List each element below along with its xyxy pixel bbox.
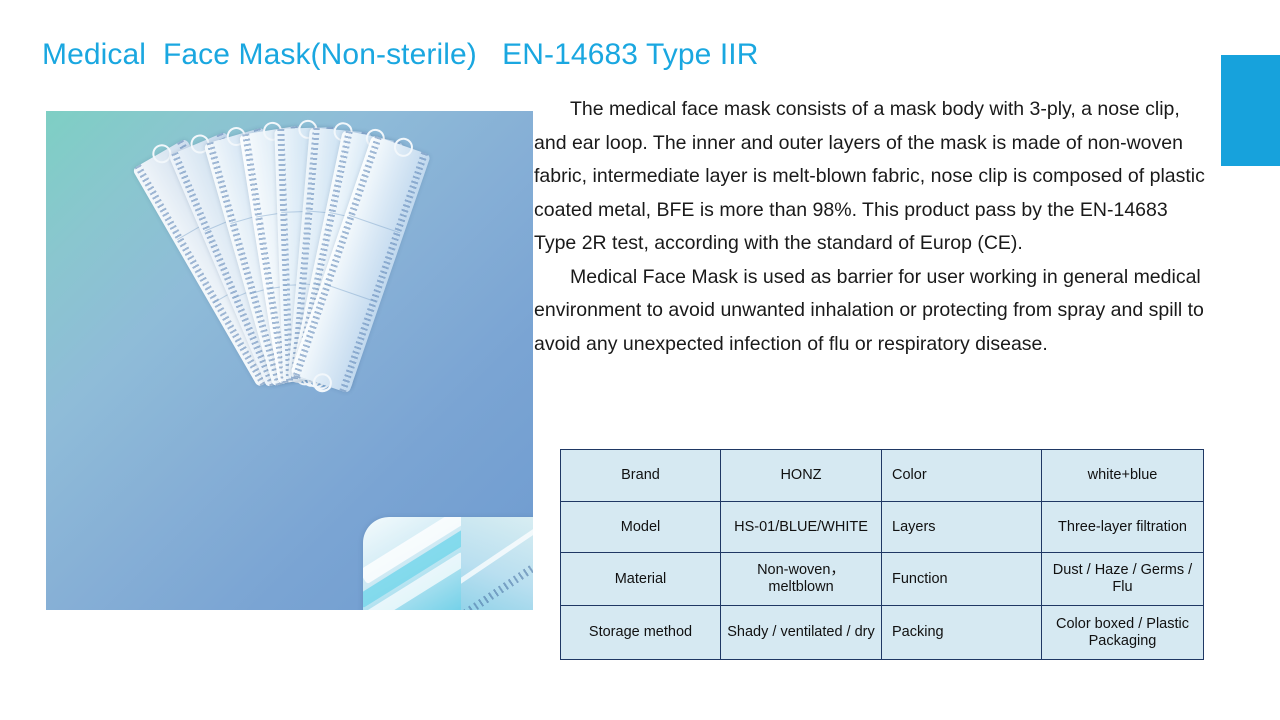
spec-label-storage-method: Storage method — [561, 606, 721, 660]
spec-value-brand: HONZ — [721, 450, 882, 502]
spec-label-layers: Layers — [882, 502, 1042, 553]
spec-value-storage-method: Shady / ventilated / dry — [721, 606, 882, 660]
table-row: Storage method Shady / ventilated / dry … — [561, 606, 1204, 660]
paragraph-intended-use: Medical Face Mask is used as barrier for… — [534, 261, 1210, 362]
spec-label-model: Model — [561, 502, 721, 553]
collage-quadrant-fabric — [461, 517, 533, 610]
inset-detail-collage — [363, 517, 533, 610]
ear-loop-icon — [310, 371, 334, 395]
spec-value-function: Dust / Haze / Germs / Flu — [1042, 553, 1204, 606]
spec-value-model: HS-01/BLUE/WHITE — [721, 502, 882, 553]
spec-value-layers: Three-layer filtration — [1042, 502, 1204, 553]
spec-value-packing: Color boxed / Plastic Packaging — [1042, 606, 1204, 660]
description-text: The medical face mask consists of a mask… — [534, 93, 1210, 361]
paragraph-product-description: The medical face mask consists of a mask… — [534, 93, 1210, 261]
accent-decoration-block — [1221, 55, 1280, 166]
spec-value-material: Non-woven，meltblown — [721, 553, 882, 606]
spec-value-color: white+blue — [1042, 450, 1204, 502]
spec-label-brand: Brand — [561, 450, 721, 502]
specification-table: Brand HONZ Color white+blue Model HS-01/… — [560, 449, 1204, 660]
spec-label-material: Material — [561, 553, 721, 606]
ear-loop-icon — [391, 135, 415, 159]
spec-label-function: Function — [882, 553, 1042, 606]
collage-quadrant-pleats — [363, 517, 461, 610]
table-row: Brand HONZ Color white+blue — [561, 450, 1204, 502]
page-title: Medical Face Mask(Non-sterile) EN-14683 … — [42, 34, 758, 76]
table-row: Model HS-01/BLUE/WHITE Layers Three-laye… — [561, 502, 1204, 553]
mask-edge-icon — [339, 152, 428, 393]
product-photo — [46, 111, 533, 610]
table-row: Material Non-woven，meltblown Function Du… — [561, 553, 1204, 606]
spec-label-color: Color — [882, 450, 1042, 502]
spec-label-packing: Packing — [882, 606, 1042, 660]
